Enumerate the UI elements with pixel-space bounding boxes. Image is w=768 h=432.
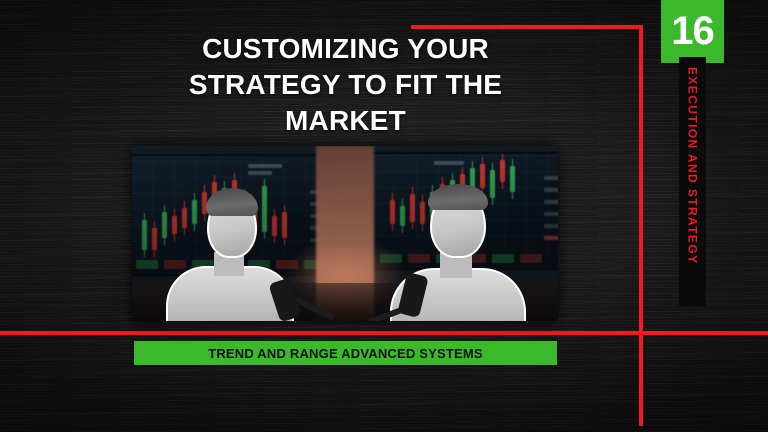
section-strip: EXECUTION AND STRATEGY bbox=[679, 57, 706, 306]
subtitle-banner: TREND AND RANGE ADVANCED SYSTEMS bbox=[134, 341, 557, 365]
divider-right-vertical-lower bbox=[639, 331, 643, 426]
lesson-number-label: 16 bbox=[671, 11, 714, 51]
divider-right-vertical-upper bbox=[639, 25, 643, 331]
slide-title-line-1: CUSTOMIZING YOUR bbox=[98, 31, 593, 67]
lesson-number-badge: 16 bbox=[661, 0, 724, 63]
section-strip-label: EXECUTION AND STRATEGY bbox=[686, 67, 700, 264]
divider-top-horizontal bbox=[411, 25, 643, 29]
interview-photo bbox=[132, 146, 558, 321]
slide-title-line-2: STRATEGY TO FIT THE bbox=[98, 67, 593, 103]
slide-title: CUSTOMIZING YOUR STRATEGY TO FIT THE MAR… bbox=[98, 31, 593, 139]
divider-middle-horizontal bbox=[0, 331, 768, 335]
subtitle-banner-label: TREND AND RANGE ADVANCED SYSTEMS bbox=[208, 346, 483, 361]
slide-title-line-3: MARKET bbox=[98, 103, 593, 139]
slide-canvas: CUSTOMIZING YOUR STRATEGY TO FIT THE MAR… bbox=[0, 0, 768, 432]
